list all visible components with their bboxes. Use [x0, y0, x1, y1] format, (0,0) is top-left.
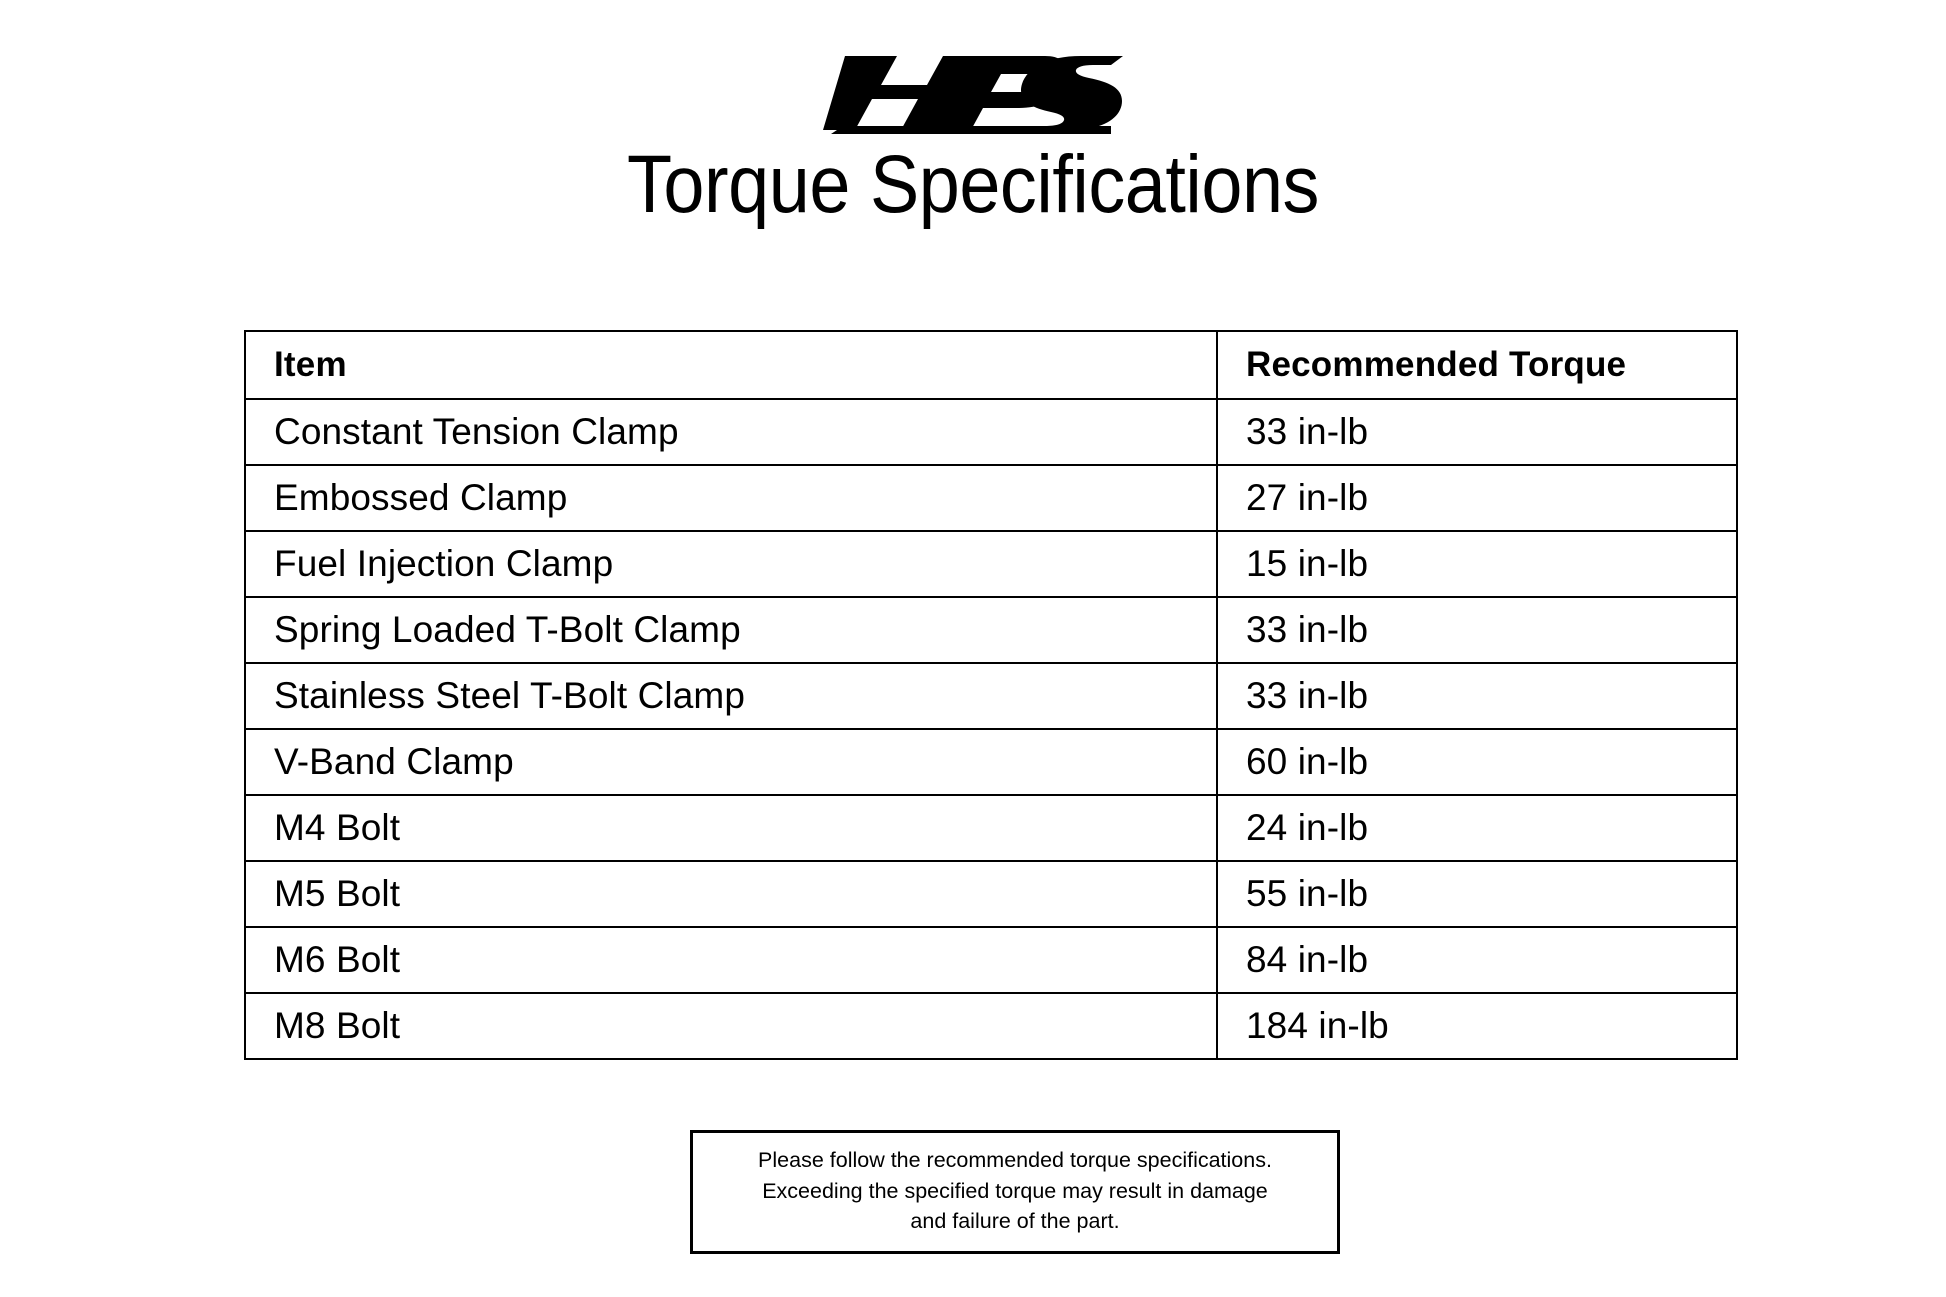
cell-item: M5 Bolt — [245, 861, 1217, 927]
cell-torque: 184 in-lb — [1217, 993, 1737, 1059]
cell-torque-text: 24 in-lb — [1218, 796, 1736, 860]
cell-item-text: M6 Bolt — [246, 928, 1216, 992]
cell-item-text: Fuel Injection Clamp — [246, 532, 1216, 596]
cell-item: Constant Tension Clamp — [245, 399, 1217, 465]
cell-torque-text: 33 in-lb — [1218, 598, 1736, 662]
table-row: Stainless Steel T-Bolt Clamp33 in-lb — [245, 663, 1737, 729]
table-row: M8 Bolt184 in-lb — [245, 993, 1737, 1059]
cell-item-text: M5 Bolt — [246, 862, 1216, 926]
cell-torque-text: 33 in-lb — [1218, 664, 1736, 728]
cell-item-text: Stainless Steel T-Bolt Clamp — [246, 664, 1216, 728]
cell-item-text: M8 Bolt — [246, 994, 1216, 1058]
spec-table: Item Recommended Torque Constant Tension… — [244, 330, 1738, 1060]
cell-torque-text: 15 in-lb — [1218, 532, 1736, 596]
cell-item: M4 Bolt — [245, 795, 1217, 861]
cell-item-text: M4 Bolt — [246, 796, 1216, 860]
column-header-torque: Recommended Torque — [1217, 331, 1737, 399]
column-header-torque-label: Recommended Torque — [1218, 332, 1736, 398]
cell-torque: 27 in-lb — [1217, 465, 1737, 531]
brand-logo — [0, 38, 1946, 134]
table-row: Embossed Clamp27 in-lb — [245, 465, 1737, 531]
table-row: Fuel Injection Clamp15 in-lb — [245, 531, 1737, 597]
cell-torque: 33 in-lb — [1217, 663, 1737, 729]
cell-torque: 55 in-lb — [1217, 861, 1737, 927]
cell-item: M8 Bolt — [245, 993, 1217, 1059]
cell-item-text: Spring Loaded T-Bolt Clamp — [246, 598, 1216, 662]
table-row: Spring Loaded T-Bolt Clamp33 in-lb — [245, 597, 1737, 663]
warning-note-line-3: and failure of the part. — [703, 1206, 1327, 1237]
column-header-item-label: Item — [246, 332, 1216, 398]
hps-wordmark-logo — [823, 38, 1123, 134]
torque-specifications-table: Item Recommended Torque Constant Tension… — [244, 330, 1736, 1060]
cell-torque-text: 33 in-lb — [1218, 400, 1736, 464]
cell-item-text: Embossed Clamp — [246, 466, 1216, 530]
table-body: Constant Tension Clamp33 in-lbEmbossed C… — [245, 399, 1737, 1059]
cell-torque: 60 in-lb — [1217, 729, 1737, 795]
cell-torque: 33 in-lb — [1217, 399, 1737, 465]
cell-item: Embossed Clamp — [245, 465, 1217, 531]
cell-item-text: Constant Tension Clamp — [246, 400, 1216, 464]
cell-torque: 33 in-lb — [1217, 597, 1737, 663]
table-header-row: Item Recommended Torque — [245, 331, 1737, 399]
cell-torque-text: 60 in-lb — [1218, 730, 1736, 794]
cell-torque-text: 84 in-lb — [1218, 928, 1736, 992]
cell-item: Spring Loaded T-Bolt Clamp — [245, 597, 1217, 663]
page-title: Torque Specifications — [97, 142, 1848, 228]
table-row: M4 Bolt24 in-lb — [245, 795, 1737, 861]
cell-torque: 84 in-lb — [1217, 927, 1737, 993]
cell-item: M6 Bolt — [245, 927, 1217, 993]
column-header-item: Item — [245, 331, 1217, 399]
warning-note-line-1: Please follow the recommended torque spe… — [703, 1145, 1327, 1176]
warning-note-line-2: Exceeding the specified torque may resul… — [703, 1176, 1327, 1207]
cell-torque: 24 in-lb — [1217, 795, 1737, 861]
table-header: Item Recommended Torque — [245, 331, 1737, 399]
cell-torque-text: 55 in-lb — [1218, 862, 1736, 926]
cell-item: Fuel Injection Clamp — [245, 531, 1217, 597]
cell-item: V-Band Clamp — [245, 729, 1217, 795]
table-row: M6 Bolt84 in-lb — [245, 927, 1737, 993]
cell-torque-text: 184 in-lb — [1218, 994, 1736, 1058]
warning-note-box: Please follow the recommended torque spe… — [690, 1130, 1340, 1254]
table-row: Constant Tension Clamp33 in-lb — [245, 399, 1737, 465]
cell-item: Stainless Steel T-Bolt Clamp — [245, 663, 1217, 729]
cell-item-text: V-Band Clamp — [246, 730, 1216, 794]
table-row: M5 Bolt55 in-lb — [245, 861, 1737, 927]
cell-torque-text: 27 in-lb — [1218, 466, 1736, 530]
table-row: V-Band Clamp60 in-lb — [245, 729, 1737, 795]
cell-torque: 15 in-lb — [1217, 531, 1737, 597]
